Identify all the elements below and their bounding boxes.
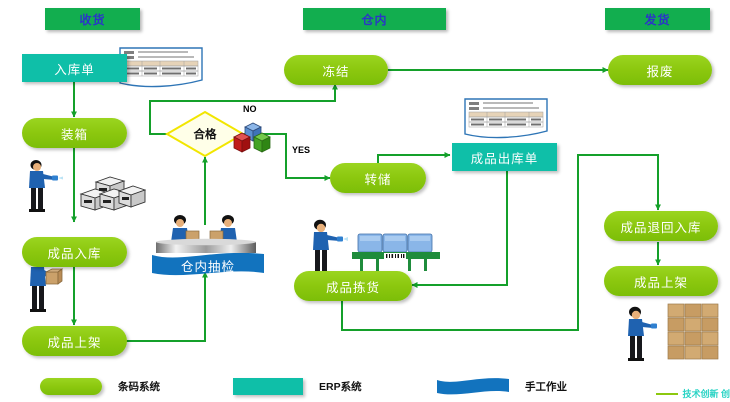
legend-item-manual-work: 手工作业 [437,378,567,395]
node-fg-shelving-left-label: 成品上架 [47,332,101,351]
node-packing[interactable]: 装箱 [22,118,127,148]
conveyor-totes-icon [352,228,442,274]
watermark-line [656,393,678,395]
edge-label-yes: YES [292,145,310,155]
node-frozen[interactable]: 冻结 [284,55,388,85]
legend-swatch-barcode-green [40,378,102,395]
quality-cubes-icon [230,120,276,160]
section-header-in-warehouse-label: 仓内 [361,11,387,28]
node-warehouse-sampling-label: 仓内抽检 [181,256,235,275]
node-fg-outbound-order-label: 成品出库单 [471,148,539,167]
watermark-text: 技术创新 创 [682,387,730,400]
legend-label-manual-work: 手工作业 [525,379,567,394]
section-header-shipping: 发货 [605,8,710,30]
section-header-receiving-label: 收货 [79,11,105,28]
legend: 条码系统 ERP系统 手工作业 技术创新 创 [0,372,730,402]
edge-transfer-to-outboundorder [378,155,450,163]
node-fg-picking-label: 成品拣货 [326,277,380,296]
flowchart-canvas: 左 上 右 上 -> 冻结 --> 右 下 右 -> 转储 --> 收货 仓内 … [0,0,730,402]
edge-outboundorder-to-return [578,155,658,210]
worker-scanning-icon [22,158,64,214]
document-image-outbound [463,98,551,140]
node-frozen-label: 冻结 [322,61,349,80]
section-header-receiving: 收货 [45,8,140,30]
legend-item-erp-system: ERP系统 [233,378,362,395]
section-header-shipping-label: 发货 [644,11,670,28]
node-fg-return-inbound[interactable]: 成品退回入库 [604,211,718,241]
edge-shelving-to-sampling [122,272,205,341]
node-fg-picking[interactable]: 成品拣货 [294,271,412,301]
node-fg-inbound-label: 成品入库 [47,243,101,262]
legend-swatch-manual-blue [437,378,509,395]
node-fg-return-inbound-label: 成品退回入库 [620,217,701,236]
worker-picking-scanner-icon [306,218,348,278]
node-inbound-order-label: 入库单 [54,59,95,78]
node-fg-inbound[interactable]: 成品入库 [22,237,127,267]
node-scrap[interactable]: 报废 [608,55,712,85]
node-warehouse-sampling[interactable]: 仓内抽检 [152,253,264,277]
legend-swatch-erp-teal [233,378,303,395]
legend-label-erp-system: ERP系统 [319,379,362,394]
edge-label-no: NO [243,104,257,114]
document-image-inbound [118,47,206,89]
node-transfer[interactable]: 转储 [330,163,426,193]
node-fg-outbound-order[interactable]: 成品出库单 [452,143,557,171]
node-fg-shelving-right-label: 成品上架 [634,272,688,291]
cartons-stack-icon [78,168,146,212]
node-transfer-label: 转储 [364,169,391,188]
legend-label-barcode-system: 条码系统 [118,379,160,394]
node-fg-shelving-left[interactable]: 成品上架 [22,326,127,356]
node-packing-label: 装箱 [61,124,88,143]
section-header-in-warehouse: 仓内 [303,8,446,30]
node-inbound-order[interactable]: 入库单 [22,54,127,82]
pallet-boxes-icon [664,298,722,364]
node-scrap-label: 报废 [646,61,673,80]
watermark: 技术创新 创 [656,387,730,400]
node-fg-shelving-right[interactable]: 成品上架 [604,266,718,296]
worker-shelving-scanner-icon [622,305,660,363]
legend-item-barcode-system: 条码系统 [40,378,160,395]
